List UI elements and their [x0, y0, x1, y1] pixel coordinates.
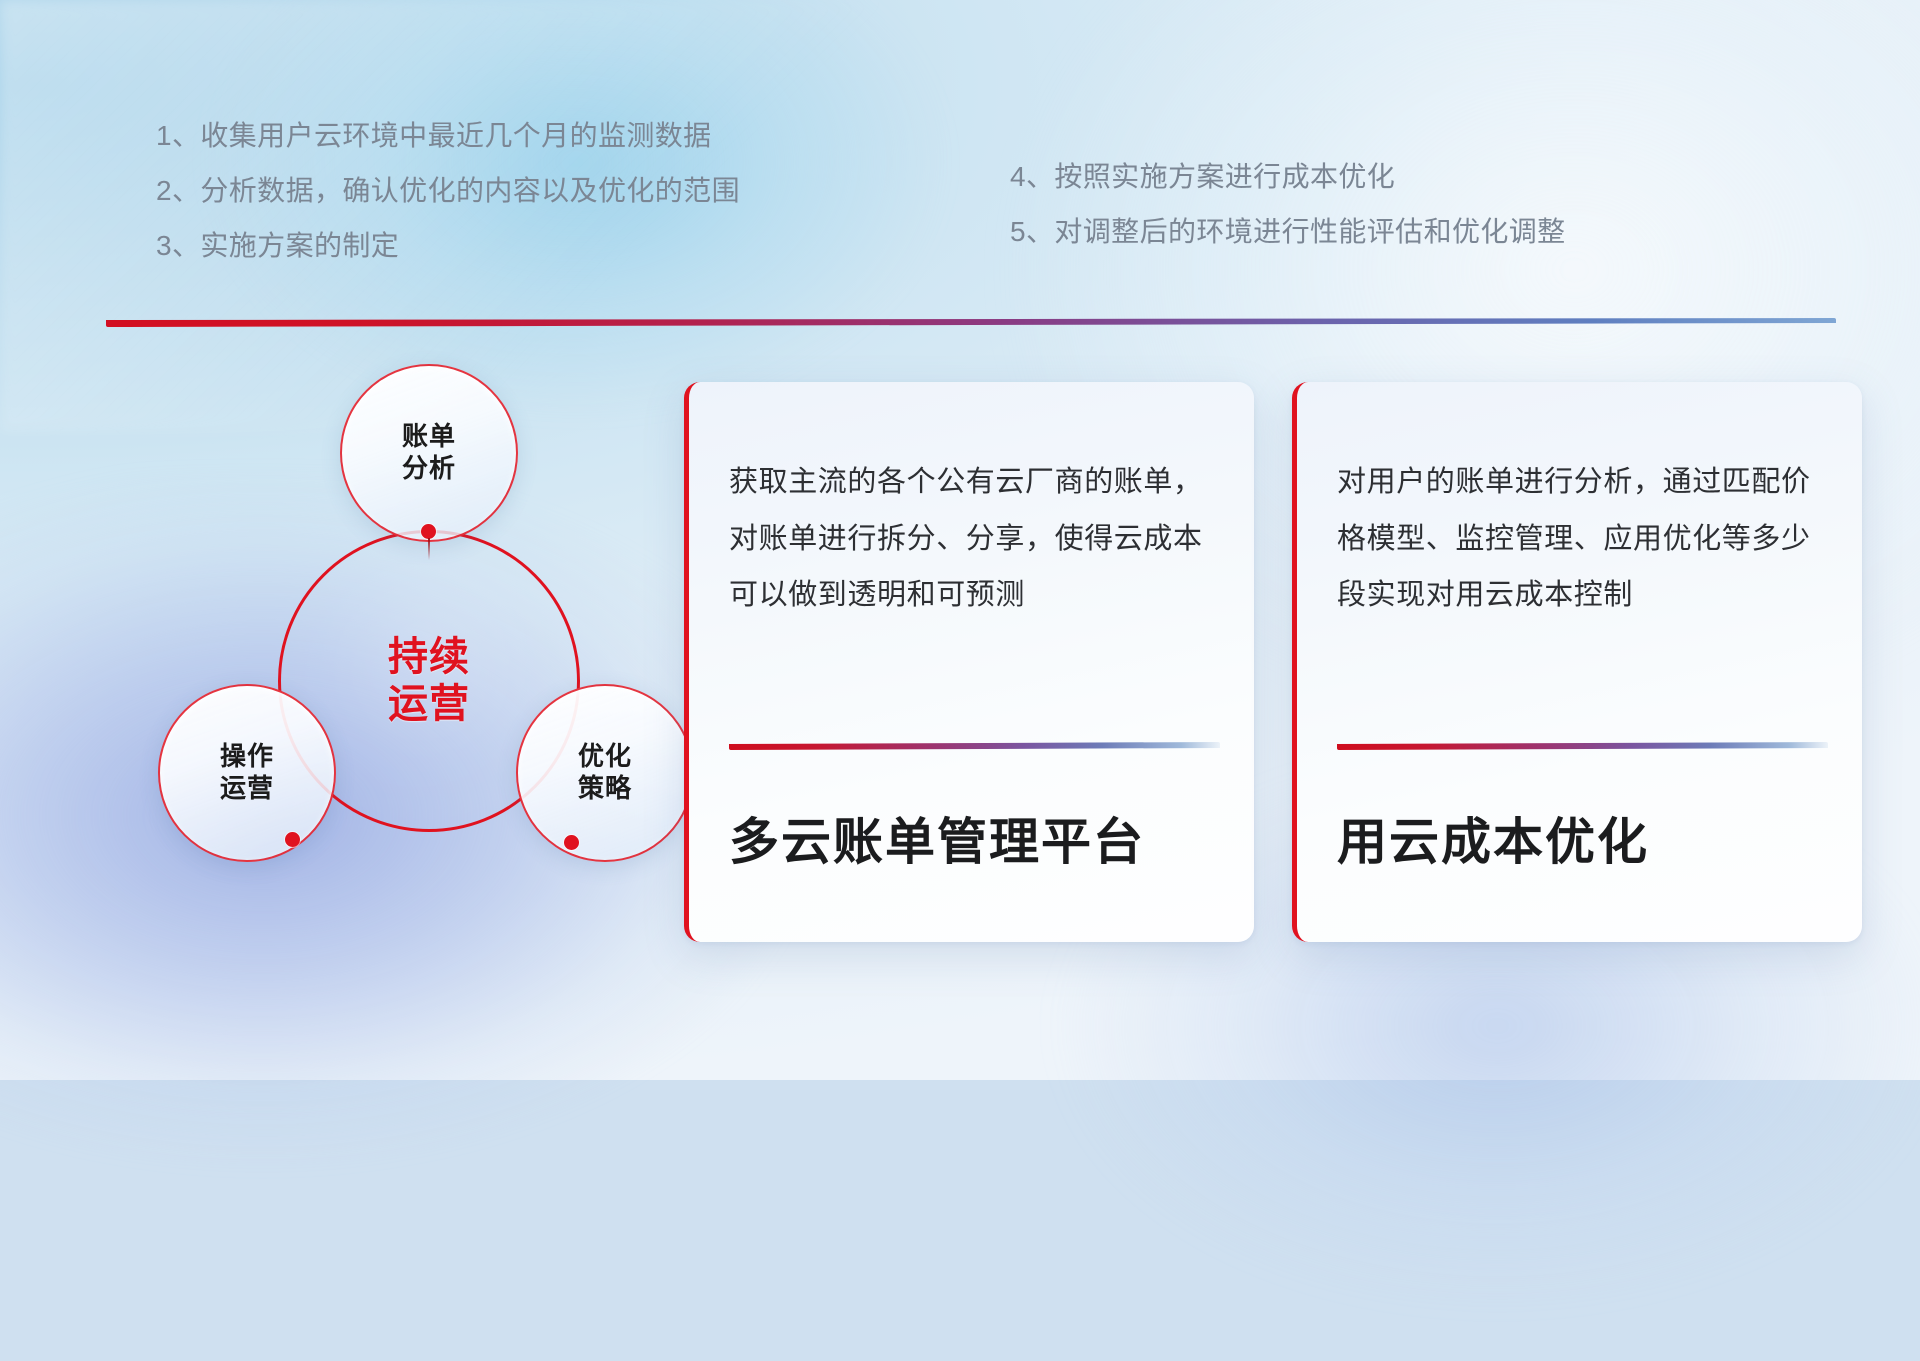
step-item: 1、收集用户云环境中最近几个月的监测数据	[156, 122, 740, 150]
venn-node-label-line1: 账单	[402, 421, 456, 453]
card-body-text: 对用户的账单进行分析，通过匹配价格模型、监控管理、应用优化等多少段实现对用云成本…	[1337, 454, 1828, 624]
card-title: 多云账单管理平台	[729, 812, 1224, 872]
venn-node-operation[interactable]: 操作 运营	[158, 684, 336, 862]
venn-node-label-line2: 运营	[220, 773, 274, 805]
venn-junction-dot-bottom-right	[564, 835, 579, 850]
venn-center-line2: 运营	[388, 681, 470, 728]
feature-card-cloud-cost-optimization[interactable]: 对用户的账单进行分析，通过匹配价格模型、监控管理、应用优化等多少段实现对用云成本…	[1292, 382, 1862, 942]
card-title: 用云成本优化	[1337, 812, 1832, 872]
steps-list-right: 4、按照实施方案进行成本优化 5、对调整后的环境进行性能评估和优化调整	[1010, 163, 1566, 273]
venn-junction-tick-top	[428, 538, 430, 560]
venn-node-optimization-strategy[interactable]: 优化 策略	[516, 684, 694, 862]
venn-node-bill-analysis[interactable]: 账单 分析	[340, 364, 518, 542]
venn-node-label-line1: 操作	[220, 741, 274, 773]
venn-node-label-line2: 策略	[578, 773, 632, 805]
feature-card-multicloud-billing[interactable]: 获取主流的各个公有云厂商的账单，对账单进行拆分、分享，使得云成本可以做到透明和可…	[684, 382, 1254, 942]
venn-node-label-line2: 分析	[402, 453, 456, 485]
card-divider-rule	[1337, 742, 1828, 750]
venn-junction-dot-top	[421, 524, 436, 539]
venn-center-line1: 持续	[388, 634, 470, 681]
steps-list-left: 1、收集用户云环境中最近几个月的监测数据 2、分析数据，确认优化的内容以及优化的…	[156, 122, 740, 287]
venn-node-label-line1: 优化	[578, 741, 632, 773]
card-divider-rule	[729, 742, 1220, 750]
step-item: 3、实施方案的制定	[156, 232, 740, 260]
step-item: 5、对调整后的环境进行性能评估和优化调整	[1010, 218, 1566, 246]
card-body-text: 获取主流的各个公有云厂商的账单，对账单进行拆分、分享，使得云成本可以做到透明和可…	[729, 454, 1220, 624]
step-item: 4、按照实施方案进行成本优化	[1010, 163, 1566, 191]
step-item: 2、分析数据，确认优化的内容以及优化的范围	[156, 177, 740, 205]
continuous-operations-diagram: 持续 运营 账单 分析 操作 运营 优化 策略	[96, 352, 616, 952]
venn-junction-dot-bottom-left	[285, 832, 300, 847]
